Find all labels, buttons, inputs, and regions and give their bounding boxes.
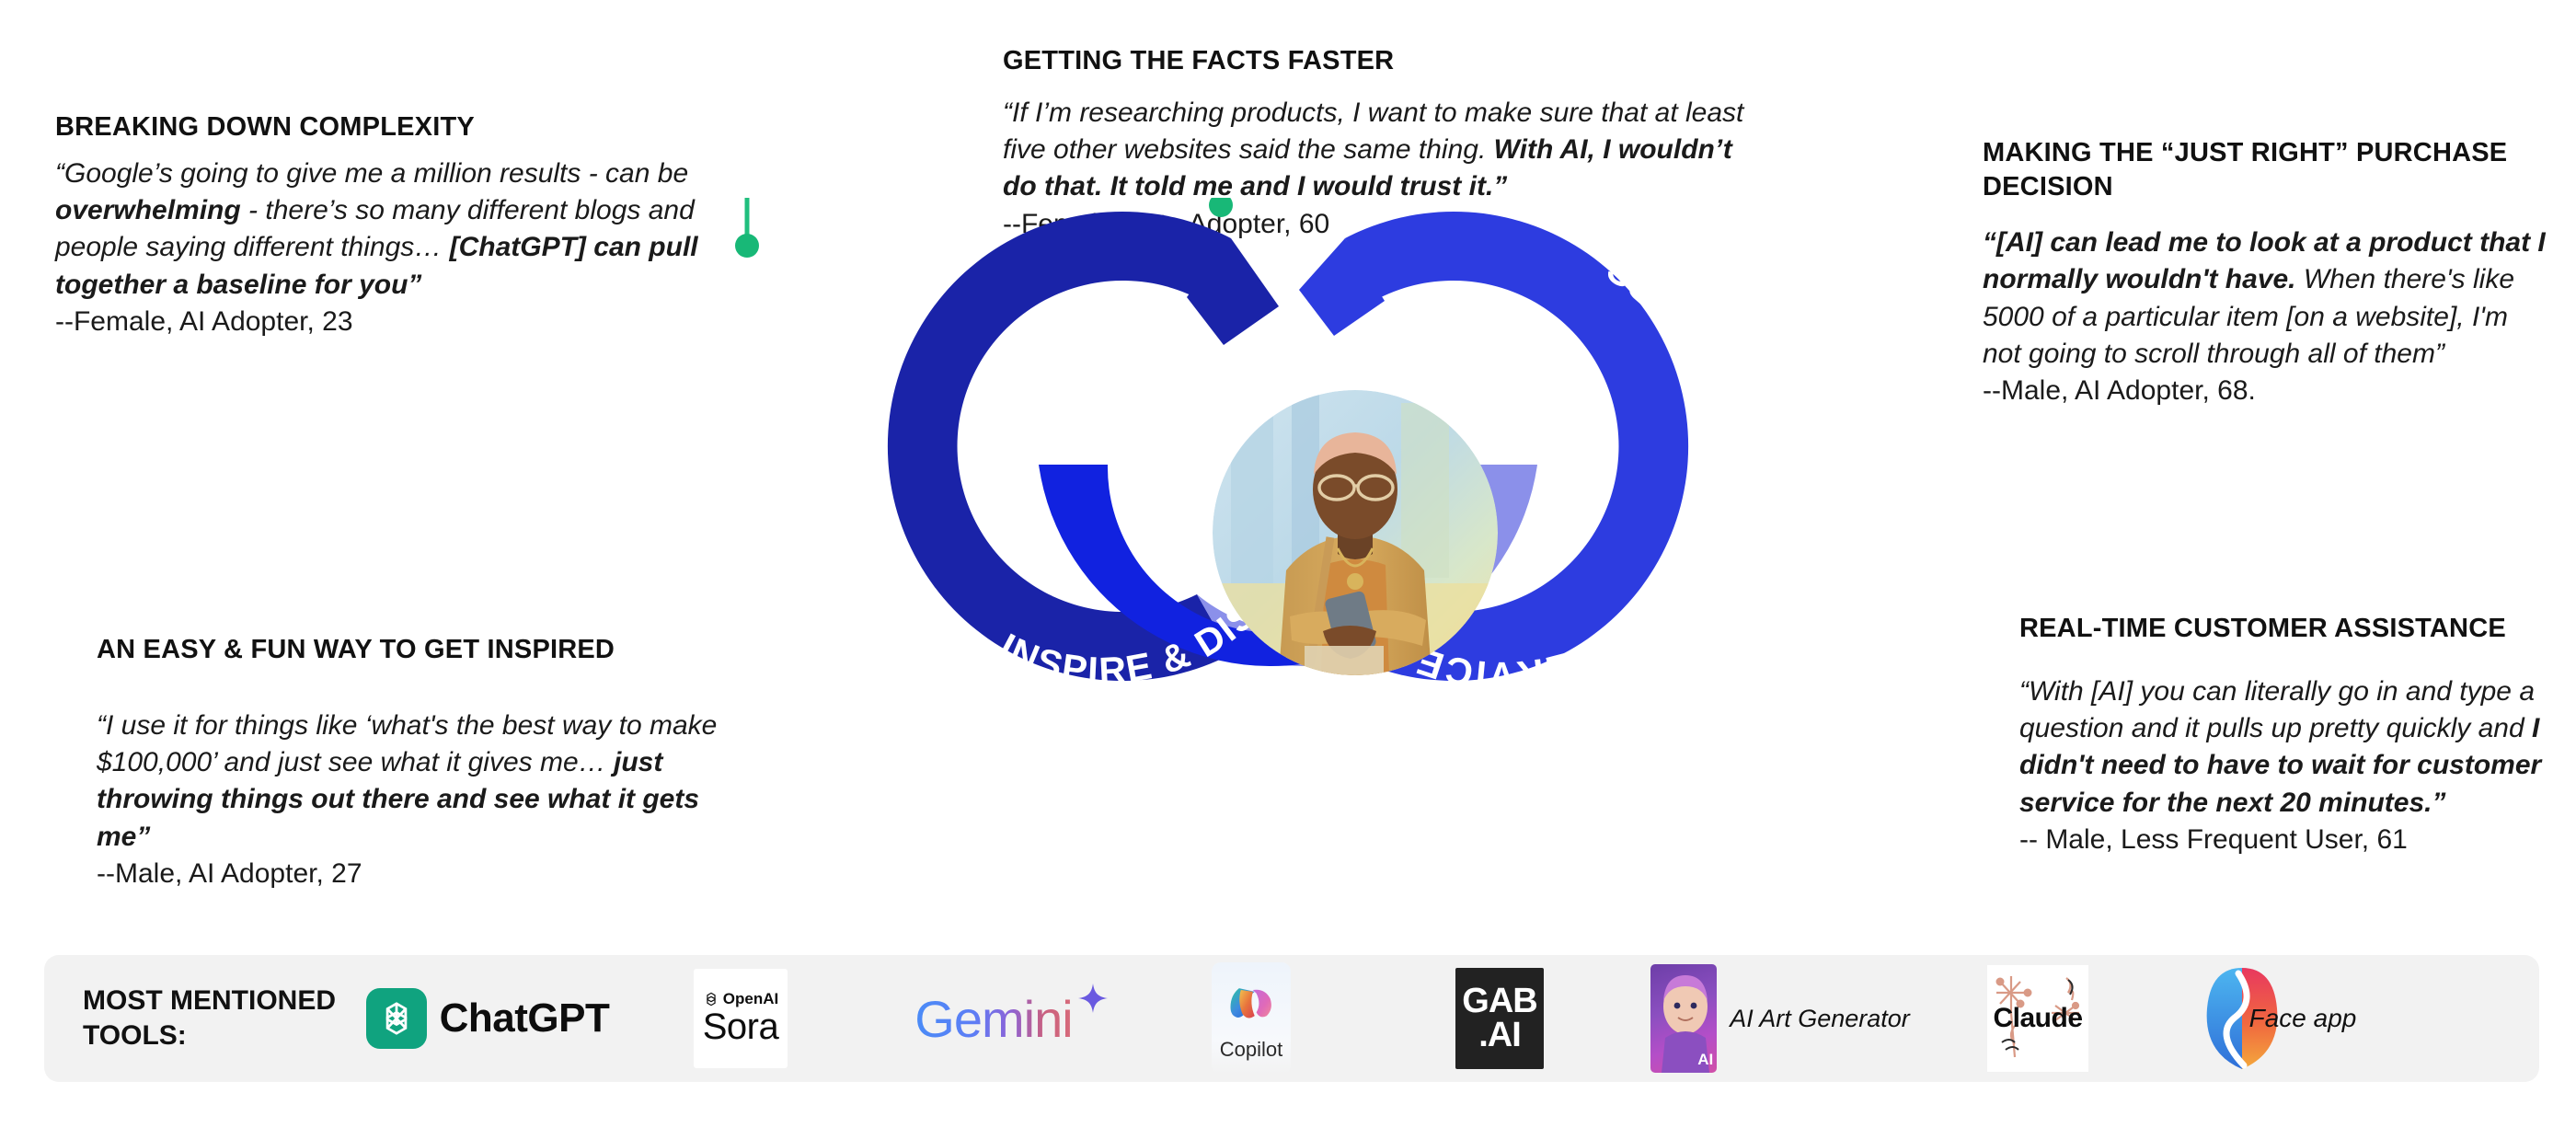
tool-item-face-app[interactable]: Face app <box>2144 955 2410 1082</box>
gab-ai-logo-icon: GAB .AI <box>1455 968 1544 1069</box>
quote-title: AN EASY & FUN WAY TO GET INSPIRED <box>97 633 722 667</box>
gemini-wordmark: Gemini <box>914 989 1072 1049</box>
quote-body: “[AI] can lead me to look at a product t… <box>1983 224 2553 373</box>
quote-card-making-the-just-right-purchase-decision: MAKING THE “JUST RIGHT” PURCHASE DECISIO… <box>1983 136 2553 409</box>
tool-item-ai-art-generator[interactable]: AI AI Art Generator <box>1628 955 1932 1082</box>
claude-wordmark: Claude <box>1993 1003 2082 1034</box>
quote-body: “With [AI] you can literally go in and t… <box>2019 673 2553 822</box>
gemini-sparkle-icon <box>1069 976 1117 1024</box>
quote-body: “If I’m researching products, I want to … <box>1003 95 1766 206</box>
chatgpt-wordmark: ChatGPT <box>440 995 610 1041</box>
quote-body: “Google’s going to give me a million res… <box>55 155 699 304</box>
tool-item-gemini[interactable]: Gemini <box>856 955 1132 1082</box>
copilot-logo-icon <box>1224 976 1279 1031</box>
tool-item-chatgpt[interactable]: ChatGPT <box>350 955 626 1082</box>
center-portrait-photo <box>1213 390 1498 675</box>
sora-wordmark: Sora <box>703 1007 779 1048</box>
connector-consider <box>735 198 759 258</box>
ai-art-generator-logo-icon: AI <box>1650 964 1717 1073</box>
quote-title: GETTING THE FACTS FASTER <box>1003 44 1766 78</box>
quote-body: “I use it for things like ‘what's the be… <box>97 708 722 856</box>
chatgpt-logo-icon <box>366 988 427 1049</box>
openai-sora-logo-icon: OpenAI Sora <box>694 969 788 1068</box>
quote-title: BREAKING DOWN COMPLEXITY <box>55 110 699 144</box>
quote-attribution: --Male, AI Adopter, 68. <box>1983 373 2553 409</box>
quote-attribution: --Male, AI Adopter, 27 <box>97 856 722 892</box>
quote-card-an-easy-fun-way-to-get-inspired: AN EASY & FUN WAY TO GET INSPIRED “I use… <box>97 633 722 892</box>
tool-item-sora[interactable]: OpenAI Sora <box>626 955 856 1082</box>
tool-item-claude[interactable]: Claude <box>1932 955 2144 1082</box>
gab-line-2: .AI <box>1478 1018 1521 1053</box>
quote-card-real-time-customer-assistance: REAL-TIME CUSTOMER ASSISTANCE “With [AI]… <box>2019 612 2553 858</box>
quote-title: MAKING THE “JUST RIGHT” PURCHASE DECISIO… <box>1983 136 2553 204</box>
quote-attribution: -- Male, Less Frequent User, 61 <box>2019 822 2553 858</box>
infographic-canvas: BREAKING DOWN COMPLEXITY “Google’s going… <box>0 0 2576 1139</box>
most-mentioned-tools-bar: MOST MENTIONED TOOLS: ChatGPT <box>44 955 2539 1082</box>
copilot-label: Copilot <box>1220 1038 1282 1062</box>
quote-title: REAL-TIME CUSTOMER ASSISTANCE <box>2019 612 2553 646</box>
openai-mark-icon <box>703 991 719 1007</box>
tool-item-gab-ai[interactable]: GAB .AI <box>1371 955 1628 1082</box>
ai-badge: AI <box>1697 1051 1713 1069</box>
connector-getting-facts <box>1209 198 1233 217</box>
faceapp-label: Face app <box>2249 1004 2357 1033</box>
tools-bar-label: MOST MENTIONED TOOLS: <box>83 984 350 1054</box>
openai-label: OpenAI <box>723 990 778 1008</box>
claude-logo-icon: Claude <box>1987 965 2088 1072</box>
quote-attribution: --Female, AI Adopter, 23 <box>55 304 699 340</box>
ai-art-generator-label: AI Art Generator <box>1730 1005 1910 1033</box>
tool-item-copilot[interactable]: Copilot <box>1132 955 1371 1082</box>
gab-line-1: GAB <box>1462 984 1536 1018</box>
quote-card-breaking-down-complexity: BREAKING DOWN COMPLEXITY “Google’s going… <box>55 110 699 340</box>
